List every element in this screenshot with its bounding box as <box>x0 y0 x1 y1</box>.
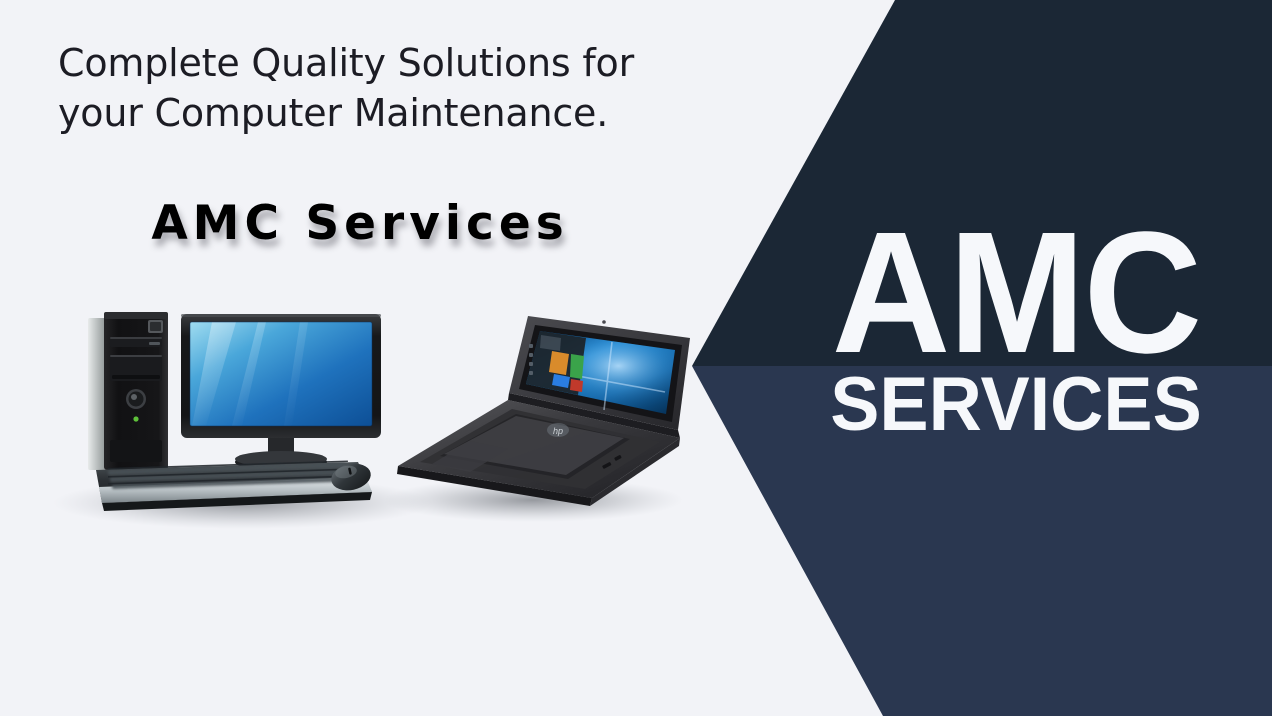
headline-line-1: Complete Quality Solutions for <box>58 38 678 88</box>
brand-subtitle-services: SERVICES <box>768 370 1265 440</box>
desktop-shadow <box>53 477 433 529</box>
headline-line-2: your Computer Maintenance. <box>58 88 678 138</box>
amc-services-banner: AMC SERVICES Complete Quality Solutions … <box>0 0 1272 716</box>
brand-lockup: AMC SERVICES <box>760 222 1272 440</box>
desktop-mouse <box>329 460 374 494</box>
svg-text:hp: hp <box>553 426 563 436</box>
laptop: hp <box>397 316 690 506</box>
hp-logo-icon: hp <box>547 423 569 437</box>
start-menu-tiles <box>540 335 584 392</box>
headline: Complete Quality Solutions for your Comp… <box>58 38 678 138</box>
section-title-amc-services: AMC Services <box>60 196 660 251</box>
desktop-tower <box>88 312 168 470</box>
desktop-monitor <box>181 314 381 471</box>
desktop-keyboard <box>96 460 372 511</box>
brand-title-amc: AMC <box>773 222 1259 364</box>
chevron-bottom-band <box>0 366 1272 716</box>
laptop-shadow <box>383 478 683 522</box>
